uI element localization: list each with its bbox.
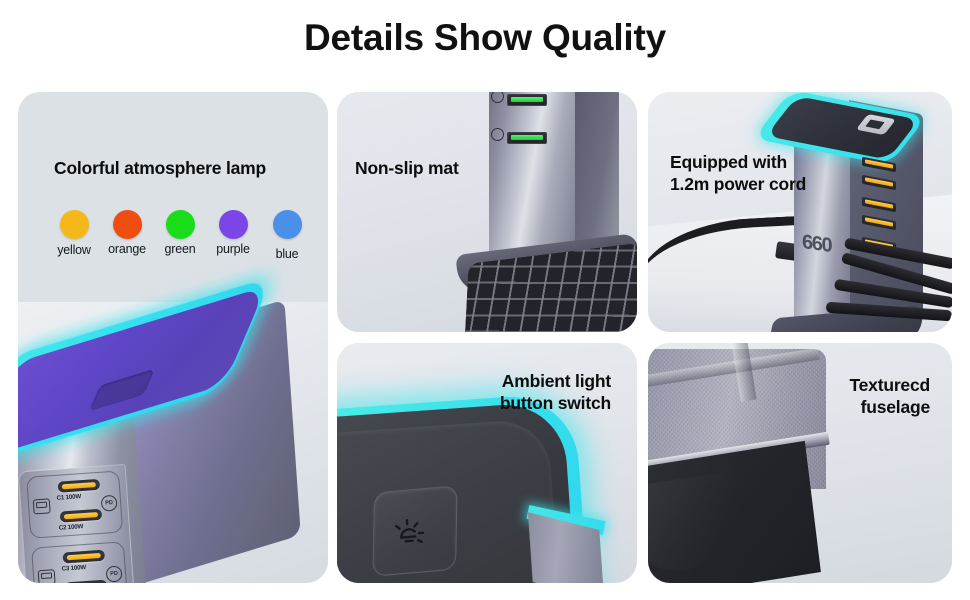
brand-logo: 660 bbox=[802, 231, 846, 267]
port-group-1: PD C1 100W C2 100W bbox=[26, 470, 123, 538]
port-label-c2: C2 100W bbox=[59, 523, 84, 532]
product-photo-charger-lit: PD C1 100W C2 100W PD C3 100W bbox=[18, 302, 328, 583]
swatch-label-purple: purple bbox=[207, 242, 259, 256]
swatch-blue: blue bbox=[261, 210, 313, 261]
usb-c-port bbox=[62, 550, 105, 564]
swatch-purple: purple bbox=[207, 210, 259, 256]
swatch-label-green: green bbox=[154, 242, 206, 256]
usb-c-port bbox=[65, 580, 108, 583]
pd-badge-icon: PD bbox=[106, 565, 123, 582]
caption-line-1: Equipped with bbox=[670, 152, 806, 174]
swatch-yellow: yellow bbox=[48, 210, 100, 257]
usb-port bbox=[862, 157, 896, 173]
product-photo-base bbox=[337, 92, 637, 332]
port-label-c3: C3 100W bbox=[61, 564, 86, 573]
caption-line-1: Texturecd bbox=[849, 375, 930, 397]
usb-a-port-cluster bbox=[495, 92, 567, 186]
usb-a-port bbox=[507, 94, 547, 106]
usb-a-port bbox=[507, 132, 547, 144]
charger-body: PD C1 100W C2 100W PD C3 100W bbox=[18, 336, 304, 583]
panel-ambient-light-switch: Ambient light button switch bbox=[337, 343, 637, 583]
swatch-label-yellow: yellow bbox=[48, 243, 100, 257]
charger-side-face bbox=[573, 92, 619, 257]
infographic-page: Details Show Quality Colorful atmosphere… bbox=[0, 0, 970, 600]
caption-ambient-light-switch: Ambient light button switch bbox=[500, 371, 611, 415]
swatch-label-orange: orange bbox=[101, 242, 153, 256]
usb-port bbox=[862, 175, 896, 191]
swatch-label-blue: blue bbox=[261, 247, 313, 261]
charger-top-assembly bbox=[18, 332, 298, 460]
charger-dark-face bbox=[648, 441, 821, 583]
caption-line-2: button switch bbox=[500, 393, 611, 415]
caption-colorful-lamp: Colorful atmosphere lamp bbox=[54, 158, 266, 180]
port-label-c1: C1 100W bbox=[56, 493, 81, 502]
port-group-2: PD C3 100W bbox=[31, 541, 128, 583]
lamp-brightness-icon bbox=[385, 509, 433, 557]
panel-colorful-lamp: Colorful atmosphere lamp yellow orange g… bbox=[18, 92, 328, 583]
swatch-green: green bbox=[154, 210, 206, 256]
swatch-dot-blue bbox=[273, 210, 302, 239]
swatch-dot-orange bbox=[113, 210, 142, 239]
page-title: Details Show Quality bbox=[0, 18, 970, 59]
usb-port bbox=[862, 197, 896, 213]
caption-non-slip-mat: Non-slip mat bbox=[355, 158, 459, 180]
caption-line-1: Ambient light bbox=[500, 371, 611, 393]
swatch-orange: orange bbox=[101, 210, 153, 256]
color-swatch-row: yellow orange green purple blue bbox=[48, 210, 308, 272]
caption-line-2: 1.2m power cord bbox=[670, 174, 806, 196]
caption-power-cord: Equipped with 1.2m power cord bbox=[670, 152, 806, 196]
laptop-icon bbox=[33, 498, 51, 514]
laptop-icon bbox=[38, 569, 56, 583]
caption-line-2: fuselage bbox=[849, 397, 930, 419]
pd-badge-icon: PD bbox=[101, 495, 118, 512]
panel-non-slip-mat: Non-slip mat bbox=[337, 92, 637, 332]
port-icon bbox=[491, 128, 504, 141]
panel-textured-fuselage: Texturecd fuselage bbox=[648, 343, 952, 583]
surface-highlight bbox=[648, 463, 788, 576]
swatch-dot-yellow bbox=[60, 210, 89, 239]
usb-c-port bbox=[60, 509, 103, 523]
product-photo-with-cables: 660 bbox=[648, 92, 952, 332]
port-plate: PD C1 100W C2 100W PD C3 100W bbox=[18, 464, 137, 583]
swatch-dot-purple bbox=[219, 210, 248, 239]
port-icon bbox=[491, 92, 504, 103]
panel-power-cord: 660 Equipped with 1.2m power cord bbox=[648, 92, 952, 332]
swatch-dot-green bbox=[166, 210, 195, 239]
usb-c-port bbox=[58, 479, 101, 493]
caption-textured-fuselage: Texturecd fuselage bbox=[849, 375, 930, 419]
usb-port bbox=[862, 215, 896, 231]
